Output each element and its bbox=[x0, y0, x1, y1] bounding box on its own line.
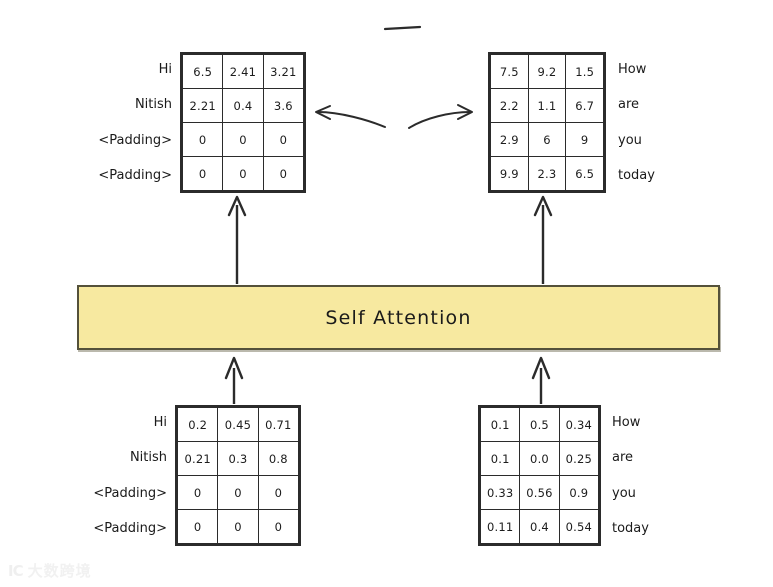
arrow-up-right-output bbox=[535, 197, 551, 284]
matrix-cell: 0.25 bbox=[559, 442, 598, 476]
row-label: are bbox=[618, 98, 758, 111]
row-label: <Padding> bbox=[20, 169, 172, 182]
watermark: IC 大数跨境 bbox=[8, 560, 92, 581]
diagram-canvas: Hi Nitish <Padding> <Padding> 6.5 2.41 3… bbox=[0, 0, 773, 587]
matrix-cell: 0 bbox=[258, 510, 298, 544]
matrix-cell: 0.45 bbox=[218, 408, 258, 442]
matrix-cell: 0 bbox=[258, 476, 298, 510]
row-label: <Padding> bbox=[15, 487, 167, 500]
matrix-cell: 0.11 bbox=[481, 510, 520, 544]
row-label: today bbox=[612, 522, 762, 535]
curved-arrow-left bbox=[316, 106, 385, 127]
matrix-cell: 0.2 bbox=[178, 408, 218, 442]
matrix-cell: 6.5 bbox=[183, 55, 223, 89]
matrix-cell: 2.9 bbox=[491, 123, 529, 157]
table-row: 0.11 0.4 0.54 bbox=[481, 510, 599, 544]
matrix-cell: 0 bbox=[183, 157, 223, 191]
matrix-cell: 6.5 bbox=[566, 157, 604, 191]
watermark-logo-icon: IC bbox=[8, 562, 23, 580]
row-label: Hi bbox=[15, 416, 167, 429]
matrix-cell: 0 bbox=[263, 123, 303, 157]
table-row: 0 0 0 bbox=[178, 510, 299, 544]
matrix-bottom-left: 0.2 0.45 0.71 0.21 0.3 0.8 0 0 0 0 0 0 bbox=[175, 405, 301, 546]
matrix-cell: 0 bbox=[218, 510, 258, 544]
row-labels-bottom-right: How are you today bbox=[612, 405, 762, 546]
matrix-top-left: 6.5 2.41 3.21 2.21 0.4 3.6 0 0 0 0 0 0 bbox=[180, 52, 306, 193]
matrix-cell: 0.34 bbox=[559, 408, 598, 442]
matrix-cell: 0 bbox=[223, 157, 263, 191]
matrix-cell: 6 bbox=[528, 123, 566, 157]
matrix-cell: 0.1 bbox=[481, 442, 520, 476]
self-attention-label: Self Attention bbox=[325, 307, 471, 329]
row-label: you bbox=[612, 487, 762, 500]
arrow-up-left-input bbox=[226, 358, 242, 404]
row-label: Nitish bbox=[20, 98, 172, 111]
matrix-cell: 2.21 bbox=[183, 89, 223, 123]
row-label: are bbox=[612, 451, 762, 464]
table-row: 0 0 0 bbox=[183, 123, 304, 157]
arrow-up-right-input bbox=[533, 358, 549, 404]
row-labels-top-left: Hi Nitish <Padding> <Padding> bbox=[20, 52, 172, 193]
matrix-cell: 0 bbox=[263, 157, 303, 191]
matrix-cell: 0 bbox=[183, 123, 223, 157]
matrix-cell: 0.0 bbox=[520, 442, 559, 476]
matrix-cell: 9 bbox=[566, 123, 604, 157]
matrix-cell: 1.1 bbox=[528, 89, 566, 123]
matrix-cell: 0.54 bbox=[559, 510, 598, 544]
row-label: How bbox=[612, 416, 762, 429]
matrix-cell: 6.7 bbox=[566, 89, 604, 123]
matrix-cell: 2.2 bbox=[491, 89, 529, 123]
matrix-cell: 0.21 bbox=[178, 442, 218, 476]
table-row: 7.5 9.2 1.5 bbox=[491, 55, 604, 89]
table-row: 2.9 6 9 bbox=[491, 123, 604, 157]
table-row: 2.21 0.4 3.6 bbox=[183, 89, 304, 123]
table-row: 2.2 1.1 6.7 bbox=[491, 89, 604, 123]
matrix-cell: 0.71 bbox=[258, 408, 298, 442]
table-row: 0 0 0 bbox=[178, 476, 299, 510]
matrix-cell: 9.2 bbox=[528, 55, 566, 89]
watermark-text: 大数跨境 bbox=[28, 560, 92, 581]
matrix-cell: 0 bbox=[178, 476, 218, 510]
row-label: <Padding> bbox=[15, 522, 167, 535]
table-row: 0.2 0.45 0.71 bbox=[178, 408, 299, 442]
matrix-cell: 0.4 bbox=[223, 89, 263, 123]
matrix-cell: 2.41 bbox=[223, 55, 263, 89]
row-label: today bbox=[618, 169, 758, 182]
matrix-cell: 9.9 bbox=[491, 157, 529, 191]
table-row: 0.1 0.5 0.34 bbox=[481, 408, 599, 442]
row-label: How bbox=[618, 63, 758, 76]
matrix-cell: 0.9 bbox=[559, 476, 598, 510]
row-label: Hi bbox=[20, 63, 172, 76]
matrix-cell: 1.5 bbox=[566, 55, 604, 89]
table-row: 9.9 2.3 6.5 bbox=[491, 157, 604, 191]
matrix-cell: 7.5 bbox=[491, 55, 529, 89]
row-label: <Padding> bbox=[20, 134, 172, 147]
matrix-cell: 2.3 bbox=[528, 157, 566, 191]
curved-arrow-right bbox=[409, 105, 472, 128]
matrix-cell: 0.8 bbox=[258, 442, 298, 476]
table-row: 0 0 0 bbox=[183, 157, 304, 191]
matrix-cell: 0.33 bbox=[481, 476, 520, 510]
table-row: 0.21 0.3 0.8 bbox=[178, 442, 299, 476]
matrix-cell: 0 bbox=[178, 510, 218, 544]
row-labels-bottom-left: Hi Nitish <Padding> <Padding> bbox=[15, 405, 167, 546]
matrix-cell: 0.4 bbox=[520, 510, 559, 544]
matrix-cell: 0.3 bbox=[218, 442, 258, 476]
table-row: 0.1 0.0 0.25 bbox=[481, 442, 599, 476]
table-row: 0.33 0.56 0.9 bbox=[481, 476, 599, 510]
matrix-top-right: 7.5 9.2 1.5 2.2 1.1 6.7 2.9 6 9 9.9 2.3 … bbox=[488, 52, 606, 193]
top-dash-mark bbox=[385, 27, 420, 29]
self-attention-block: Self Attention bbox=[77, 285, 720, 350]
matrix-cell: 3.6 bbox=[263, 89, 303, 123]
row-labels-top-right: How are you today bbox=[618, 52, 758, 193]
matrix-cell: 0 bbox=[218, 476, 258, 510]
matrix-cell: 0.1 bbox=[481, 408, 520, 442]
row-label: Nitish bbox=[15, 451, 167, 464]
table-row: 6.5 2.41 3.21 bbox=[183, 55, 304, 89]
matrix-cell: 3.21 bbox=[263, 55, 303, 89]
row-label: you bbox=[618, 134, 758, 147]
matrix-cell: 0.5 bbox=[520, 408, 559, 442]
matrix-cell: 0 bbox=[223, 123, 263, 157]
matrix-bottom-right: 0.1 0.5 0.34 0.1 0.0 0.25 0.33 0.56 0.9 … bbox=[478, 405, 601, 546]
matrix-cell: 0.56 bbox=[520, 476, 559, 510]
arrow-up-left-output bbox=[229, 197, 245, 284]
